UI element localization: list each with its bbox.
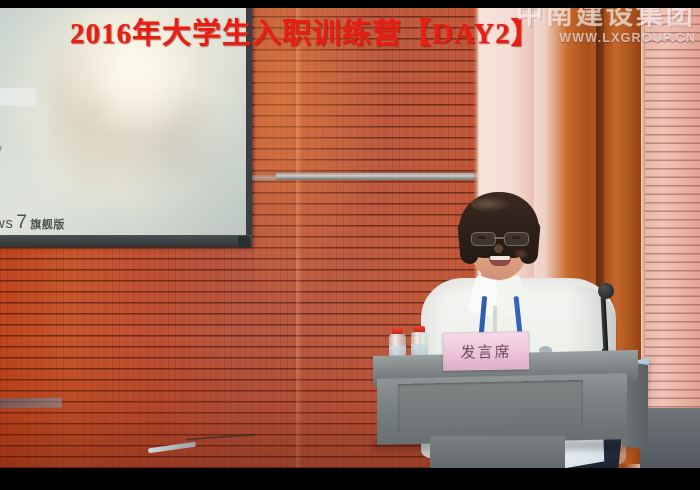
lens-left (471, 232, 496, 246)
hair-highlight (471, 196, 511, 212)
overlay-title: 2016年大学生入职训练营【DAY2】 (70, 10, 541, 52)
glasses-bridge (494, 237, 504, 239)
bottle-label (411, 344, 428, 355)
desktop-tile (0, 88, 36, 106)
projection-screen-bottom-bar (0, 235, 252, 247)
lens-right (504, 232, 529, 246)
podium-name-card-text: 发言席 (460, 340, 511, 362)
eye-right (512, 236, 520, 239)
eye-left (478, 236, 486, 239)
os-brand-name: ws (0, 215, 13, 232)
os-edition: 旗舰版 (30, 219, 65, 231)
letterbox-bar-top (0, 0, 700, 8)
microphone-head-icon (598, 283, 614, 299)
letterbox-bar-bottom (0, 468, 700, 490)
os-branding-text: ws7旗舰版 (0, 212, 65, 234)
watermark-url: WWW.LXGROUP.CN (516, 32, 696, 45)
wall-blue-accent (0, 397, 62, 408)
wall-light-glow (255, 8, 385, 308)
podium-base (430, 436, 565, 468)
right-wall-panel (640, 8, 700, 468)
os-version: 7 (13, 212, 30, 233)
teeth (490, 256, 510, 260)
podium-name-card: 发言席 (443, 331, 530, 370)
side-table (640, 408, 700, 468)
projection-screen-mount (238, 236, 250, 248)
photograph: W ws7旗舰版 (0, 8, 700, 468)
podium-front-inset (398, 380, 583, 432)
screenshot-root: W ws7旗舰版 (0, 0, 700, 490)
desktop-tile-label: W (0, 145, 2, 154)
watermark: 中南建设集团 WWW.LXGROUP.CN (516, 2, 696, 45)
nose (494, 244, 503, 253)
cheek (513, 248, 529, 260)
